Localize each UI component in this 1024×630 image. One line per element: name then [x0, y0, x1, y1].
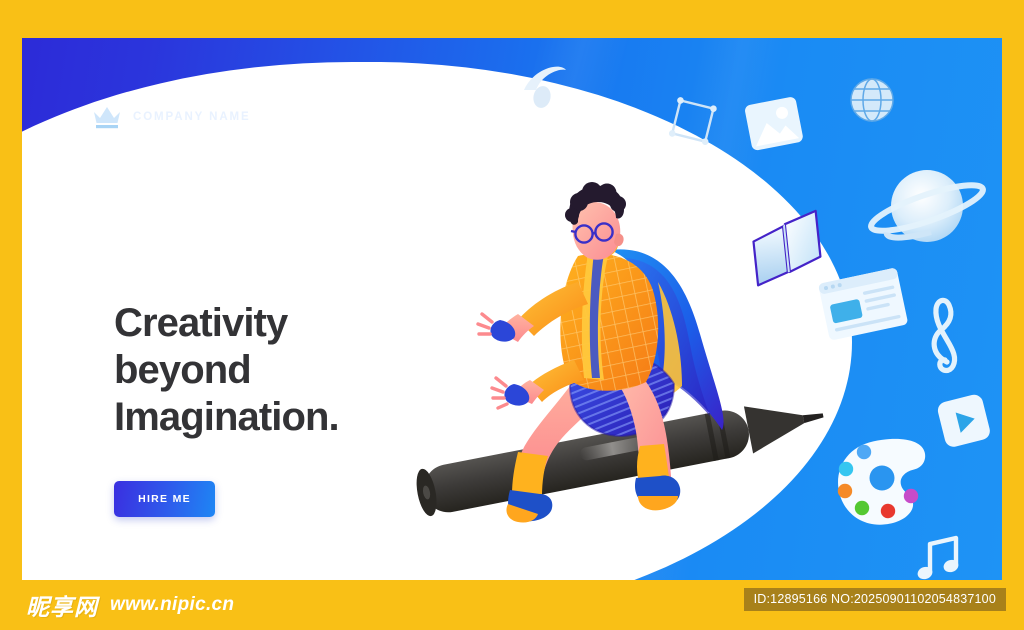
watermark-site-name: 昵享网: [26, 588, 98, 622]
hire-me-button[interactable]: HIRE ME: [114, 481, 215, 517]
palette-icon: [830, 431, 937, 532]
page-title: Creativity beyond Imagination.: [114, 300, 339, 442]
headline-line-1: Creativity: [114, 300, 339, 347]
planet-icon: [867, 170, 987, 246]
watermark-url: www.nipic.cn: [110, 594, 234, 616]
treble-clef-icon: [934, 300, 954, 370]
photo-icon: [744, 96, 804, 151]
watermark-bar: 昵享网 www.nipic.cn ID:12895166 NO:20250901…: [0, 580, 1024, 630]
music-note-icon: [916, 538, 960, 580]
hero-banner: COMPANY NAME Creativity beyond Imaginati…: [22, 38, 1002, 580]
globe-icon: [851, 79, 893, 121]
logo-group[interactable]: COMPANY NAME: [92, 104, 251, 130]
headline-line-3: Imagination.: [114, 394, 339, 441]
play-button-icon: [936, 393, 992, 449]
company-name: COMPANY NAME: [133, 111, 251, 123]
crown-icon: [92, 104, 122, 130]
image-id-badge: ID:12895166 NO:20250901102054837100: [744, 588, 1006, 611]
headline-line-2: beyond: [114, 347, 339, 394]
